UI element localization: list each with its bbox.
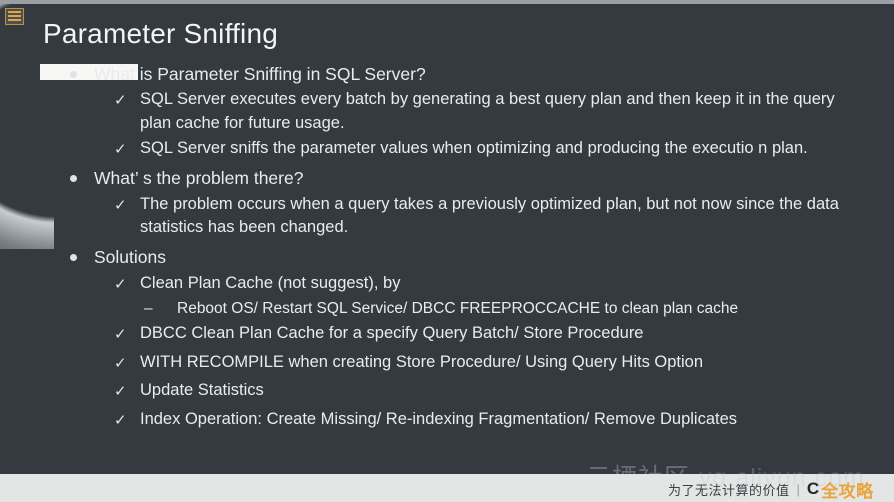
list-item-label: The problem occurs when a query takes a …: [140, 195, 839, 237]
dash-icon: –: [144, 297, 153, 320]
list-item-label: Index Operation: Create Missing/ Re-inde…: [140, 410, 737, 428]
list-item-label: What’ s the problem there?: [94, 168, 303, 188]
list-item[interactable]: ✓ The problem occurs when a query takes …: [0, 193, 894, 240]
list-item-label: Solutions: [94, 247, 166, 267]
list-item[interactable]: What is Parameter Sniffing in SQL Server…: [0, 62, 894, 87]
list-item-label: WITH RECOMPILE when creating Store Proce…: [140, 353, 703, 371]
list-item[interactable]: ✓ SQL Server executes every batch by gen…: [0, 88, 894, 135]
brand-logo-icon: C: [807, 479, 819, 499]
brand-logo-text: 全攻略: [821, 477, 874, 502]
check-icon: ✓: [114, 380, 127, 404]
check-icon: ✓: [114, 352, 127, 376]
list-item-label: Update Statistics: [140, 381, 264, 399]
list-item[interactable]: ✓ Index Operation: Create Missing/ Re-in…: [0, 408, 894, 432]
list-item[interactable]: ✓ WITH RECOMPILE when creating Store Pro…: [0, 351, 894, 375]
bullet-icon: [70, 175, 77, 182]
check-icon: ✓: [114, 323, 127, 347]
list-item[interactable]: – Reboot OS/ Restart SQL Service/ DBCC F…: [0, 297, 894, 320]
list-item-label: SQL Server executes every batch by gener…: [140, 90, 835, 132]
check-icon: ✓: [114, 194, 127, 218]
check-icon: ✓: [114, 138, 127, 162]
slide-body: What is Parameter Sniffing in SQL Server…: [0, 62, 894, 432]
footer-slogan: 为了无法计算的价值: [668, 480, 790, 499]
bullet-icon: [70, 71, 77, 78]
slide-layers-icon[interactable]: [5, 8, 24, 25]
list-item[interactable]: Solutions: [0, 245, 894, 270]
list-item[interactable]: ✓ DBCC Clean Plan Cache for a specify Qu…: [0, 322, 894, 346]
page-title: Parameter Sniffing: [43, 18, 278, 50]
slide-canvas[interactable]: Parameter Sniffing What is Parameter Sni…: [0, 4, 894, 474]
list-item-label: DBCC Clean Plan Cache for a specify Quer…: [140, 324, 643, 342]
check-icon: ✓: [114, 89, 127, 113]
list-item-label: Clean Plan Cache (not suggest), by: [140, 274, 400, 292]
footer-brand: 为了无法计算的价值 | C 全攻略: [668, 479, 874, 499]
list-item[interactable]: ✓ SQL Server sniffs the parameter values…: [0, 137, 894, 161]
list-item-label: Reboot OS/ Restart SQL Service/ DBCC FRE…: [177, 300, 738, 317]
list-item[interactable]: ✓ Update Statistics: [0, 379, 894, 403]
check-icon: ✓: [114, 409, 127, 433]
footer-divider: |: [797, 482, 800, 497]
list-item-label: SQL Server sniffs the parameter values w…: [140, 139, 808, 157]
list-item[interactable]: What’ s the problem there?: [0, 166, 894, 191]
list-item[interactable]: ✓ Clean Plan Cache (not suggest), by: [0, 272, 894, 296]
check-icon: ✓: [114, 273, 127, 297]
presentation-window: Parameter Sniffing What is Parameter Sni…: [0, 0, 894, 502]
list-item-label: What is Parameter Sniffing in SQL Server…: [94, 64, 426, 84]
bullet-icon: [70, 254, 77, 261]
